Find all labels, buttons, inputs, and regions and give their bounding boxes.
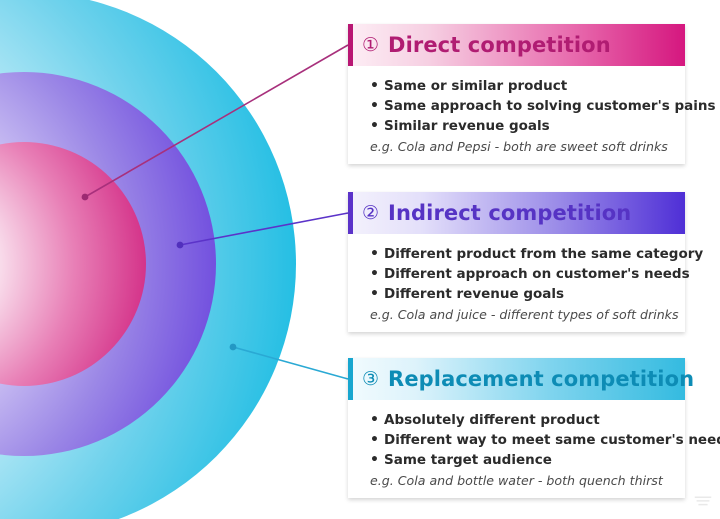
card-indirect-title: Indirect competition xyxy=(388,201,631,225)
list-item: Same target audience xyxy=(370,450,673,470)
card-direct-header: ① Direct competition xyxy=(348,24,685,66)
step-number-badge: ② xyxy=(362,204,379,223)
list-item: Similar revenue goals xyxy=(370,116,673,136)
list-item: Different revenue goals xyxy=(370,284,673,304)
card-direct-example: e.g. Cola and Pepsi - both are sweet sof… xyxy=(370,139,673,154)
card-replacement-header: ③ Replacement competition xyxy=(348,358,685,400)
watermark-icon xyxy=(692,489,714,511)
step-number-badge: ① xyxy=(362,36,379,55)
card-replacement-title: Replacement competition xyxy=(388,367,694,391)
card-indirect-example: e.g. Cola and juice - different types of… xyxy=(370,307,673,322)
accent-bar-icon xyxy=(348,192,353,234)
card-replacement-competition: ③ Replacement competition Absolutely dif… xyxy=(348,358,685,498)
card-replacement-example: e.g. Cola and bottle water - both quench… xyxy=(370,473,673,488)
accent-bar-icon xyxy=(348,358,353,400)
card-indirect-header: ② Indirect competition xyxy=(348,192,685,234)
list-item: Same approach to solving customer's pain… xyxy=(370,96,673,116)
list-item: Different way to meet same customer's ne… xyxy=(370,430,673,450)
card-indirect-bullet-list: Different product from the same category… xyxy=(370,244,673,304)
concentric-rings-graphic xyxy=(0,0,340,519)
step-number-badge: ③ xyxy=(362,370,379,389)
list-item: Different approach on customer's needs xyxy=(370,264,673,284)
card-direct-body: Same or similar product Same approach to… xyxy=(348,66,685,164)
card-indirect-competition: ② Indirect competition Different product… xyxy=(348,192,685,332)
card-direct-competition: ① Direct competition Same or similar pro… xyxy=(348,24,685,164)
card-indirect-body: Different product from the same category… xyxy=(348,234,685,332)
list-item: Absolutely different product xyxy=(370,410,673,430)
card-replacement-bullet-list: Absolutely different product Different w… xyxy=(370,410,673,470)
list-item: Different product from the same category xyxy=(370,244,673,264)
card-direct-bullet-list: Same or similar product Same approach to… xyxy=(370,76,673,136)
accent-bar-icon xyxy=(348,24,353,66)
card-direct-title: Direct competition xyxy=(388,33,611,57)
diagram-canvas: ① Direct competition Same or similar pro… xyxy=(0,0,720,519)
card-replacement-body: Absolutely different product Different w… xyxy=(348,400,685,498)
list-item: Same or similar product xyxy=(370,76,673,96)
